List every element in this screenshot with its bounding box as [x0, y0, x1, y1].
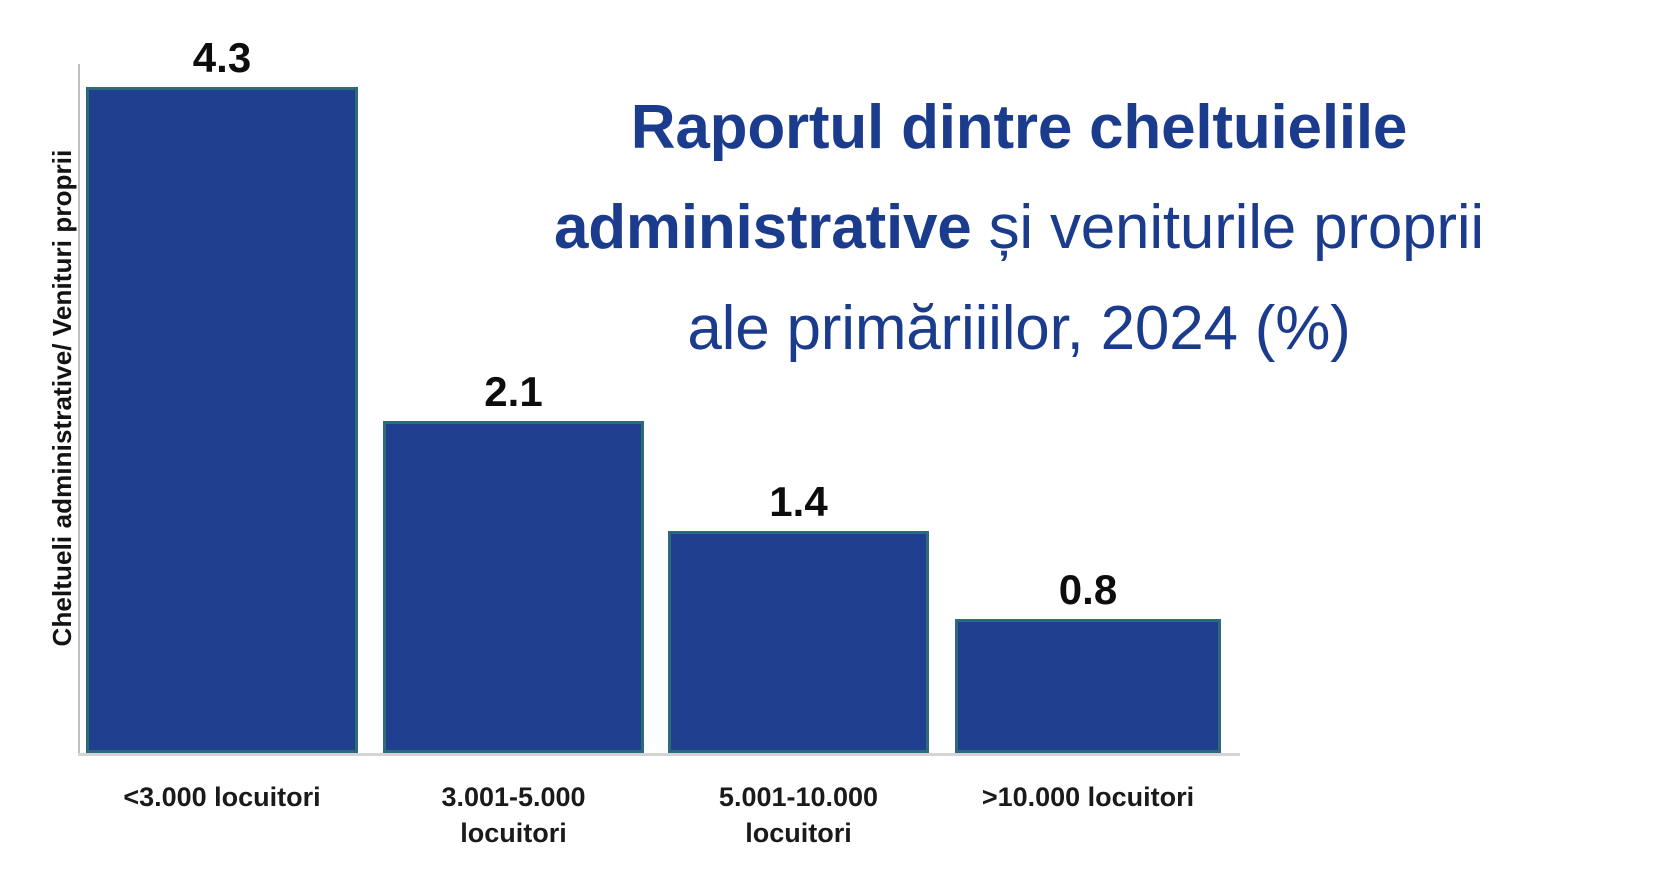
- x-axis-category-label-2: 5.001-10.000 locuitori: [634, 780, 964, 851]
- bar-rect-1[interactable]: [383, 421, 644, 753]
- x-axis-category-label-0: <3.000 locuitori: [57, 780, 387, 816]
- x-axis-category-label-1: 3.001-5.000 locuitori: [349, 780, 679, 851]
- plot-area: 4.3 <3.000 locuitori 2.1 3.001-5.000 loc…: [78, 40, 1258, 756]
- bar-value-label-0: 4.3: [193, 37, 251, 79]
- bar-value-label-2: 1.4: [769, 481, 827, 523]
- bars-group: 4.3 <3.000 locuitori 2.1 3.001-5.000 loc…: [78, 40, 1258, 756]
- bar-rect-2[interactable]: [668, 531, 929, 753]
- bar-chart-figure: Raportul dintre cheltuielile administrat…: [0, 0, 1668, 896]
- bar-rect-3[interactable]: [955, 619, 1221, 753]
- bar-value-label-3: 0.8: [1059, 569, 1117, 611]
- bar-value-label-1: 2.1: [484, 371, 542, 413]
- x-axis-category-label-3: >10.000 locuitori: [923, 780, 1253, 816]
- bar-rect-0[interactable]: [86, 87, 358, 753]
